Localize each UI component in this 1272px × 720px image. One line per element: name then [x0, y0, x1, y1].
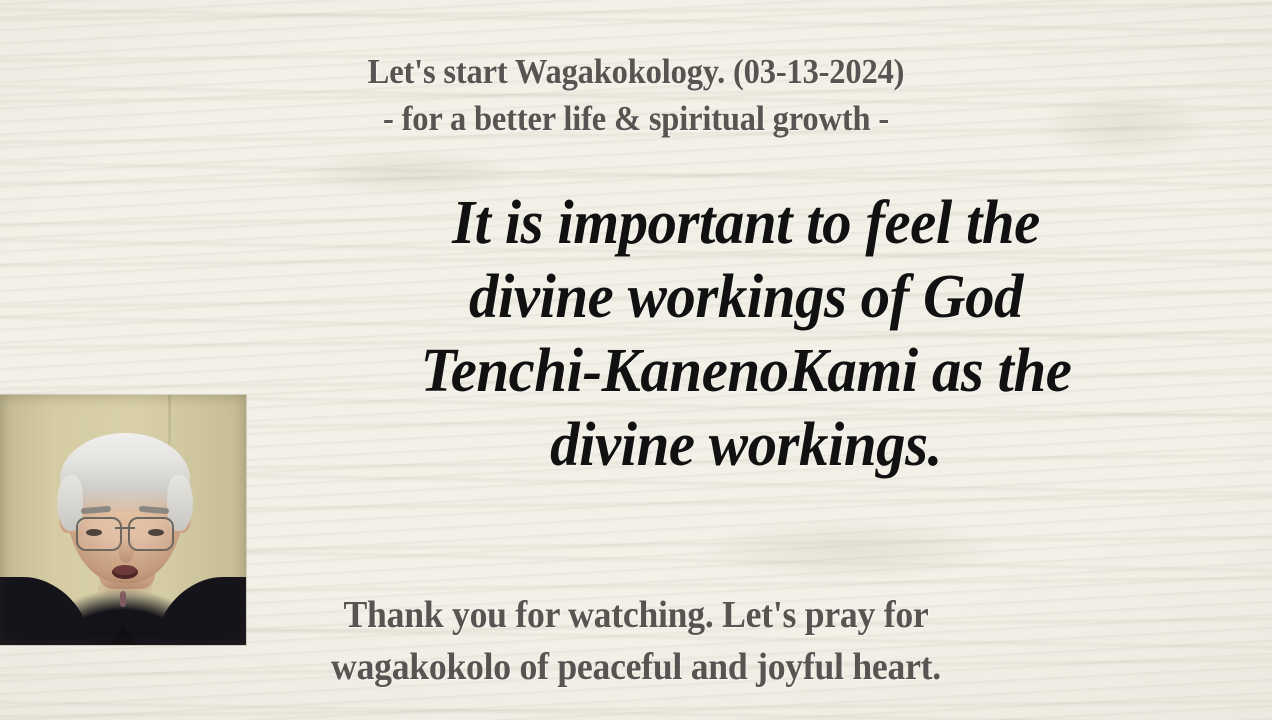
speaker-robe-collar	[93, 625, 153, 645]
header-line-title: Let's start Wagakokology. (03-13-2024)	[45, 48, 1228, 95]
speaker-chin-shadow	[98, 581, 152, 595]
statement-line-2: divine workings of God	[275, 260, 1217, 334]
footer-line-2: wagakokolo of peaceful and joyful heart.	[38, 641, 1234, 693]
speaker-shoulder-left	[0, 577, 108, 645]
statement-line-4: divine workings.	[275, 408, 1217, 482]
video-slide: Let's start Wagakokology. (03-13-2024) -…	[0, 0, 1272, 720]
speaker-mouth	[112, 565, 138, 579]
speaker-nose	[118, 537, 134, 563]
eyeglass-lens-left	[76, 517, 122, 551]
statement-line-3: Tenchi-KanenoKami as the	[275, 334, 1217, 408]
wood-knot-icon	[700, 520, 1000, 580]
speaker-video-inset[interactable]	[0, 395, 246, 645]
speaker-eyebrow-left	[81, 506, 111, 515]
header-line-subtitle: - for a better life & spiritual growth -	[45, 95, 1228, 142]
statement-line-1: It is important to feel the	[275, 186, 1217, 260]
speaker-head	[66, 441, 184, 583]
eyeglass-lens-right	[128, 517, 174, 551]
slide-header: Let's start Wagakokology. (03-13-2024) -…	[45, 48, 1228, 142]
speaker-shoulder-right	[138, 577, 246, 645]
eyeglass-bridge	[115, 527, 135, 529]
speaker-eyebrow-right	[139, 506, 169, 515]
main-statement: It is important to feel the divine worki…	[275, 186, 1217, 482]
